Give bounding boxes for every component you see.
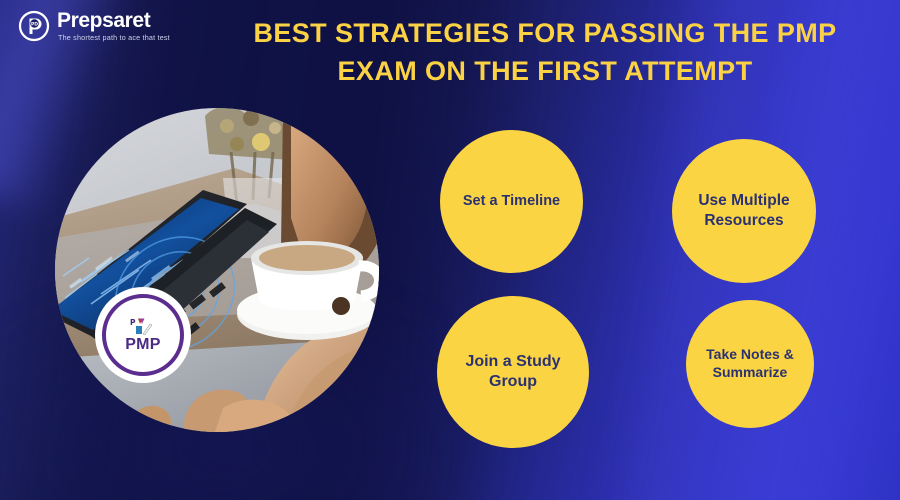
prepsaret-p-circle-icon: PD [18,10,50,42]
pmp-badge-label: PMP [125,337,161,353]
brand-name: Prepsaret [57,10,170,31]
strategy-bubble-take-notes-and-summarize[interactable]: Take Notes & Summarize [686,300,814,428]
pmi-logo-mark-icon: P [128,317,158,336]
strategy-line: Take Notes & [706,346,794,364]
strategy-bubble-text: Join a Study Group [465,352,560,393]
brand-logo-text: Prepsaret The shortest path to ace that … [57,10,170,41]
strategy-line: Summarize [706,364,794,382]
brand-logo[interactable]: PD Prepsaret The shortest path to ace th… [18,10,170,42]
strategy-bubble-join-a-study-group[interactable]: Join a Study Group [437,296,589,448]
strategy-line: Use Multiple [698,191,789,211]
strategy-line: Join a Study [465,352,560,372]
svg-text:PD: PD [31,21,38,27]
strategy-line: Resources [698,211,789,231]
strategy-line: Group [465,372,560,392]
svg-text:P: P [130,318,136,327]
strategy-bubble-use-multiple-resources[interactable]: Use Multiple Resources [672,139,816,283]
strategy-bubble-text: Take Notes & Summarize [706,346,794,382]
page-title: BEST STRATEGIES FOR PASSING THE PMP EXAM… [232,14,858,91]
strategy-bubble-set-a-timeline[interactable]: Set a Timeline [440,130,583,273]
brand-tagline: The shortest path to ace that test [58,34,170,41]
infographic-canvas: PD Prepsaret The shortest path to ace th… [0,0,900,500]
strategy-line: Set a Timeline [463,192,560,211]
pmp-badge-ring: P PMP [102,294,184,376]
laptop-study-photo-icon [55,108,379,432]
pmp-certification-badge: P PMP [95,287,191,383]
hero-photo [55,108,379,432]
strategy-bubble-text: Set a Timeline [463,192,560,211]
strategy-bubble-text: Use Multiple Resources [698,191,789,231]
